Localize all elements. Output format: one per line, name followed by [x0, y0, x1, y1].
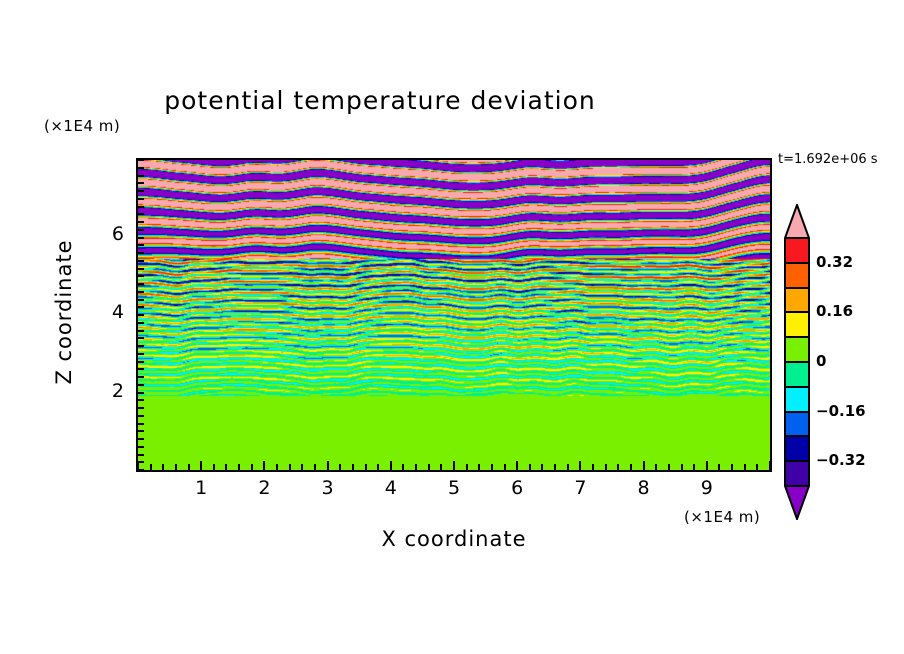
- y-tick: [138, 454, 144, 456]
- x-tick: [251, 464, 253, 470]
- x-tick: [491, 464, 493, 470]
- x-tick: [756, 464, 758, 470]
- y-tick: [138, 268, 144, 270]
- x-tick: [605, 464, 607, 470]
- x-tick: [339, 464, 341, 470]
- x-tick: [225, 464, 227, 470]
- x-tick-label: 6: [497, 477, 537, 499]
- x-tick: [478, 464, 480, 470]
- x-tick: [567, 464, 569, 470]
- y-tick: [138, 399, 144, 401]
- x-tick: [415, 464, 417, 470]
- x-tick-label: 3: [308, 477, 348, 499]
- y-tick: [138, 392, 144, 394]
- x-tick: [276, 464, 278, 470]
- x-tick: [769, 461, 771, 470]
- x-tick-label: 2: [244, 477, 284, 499]
- colorbar-top-arrow: [784, 204, 810, 238]
- colorbar-tick-label: 0.16: [816, 302, 853, 320]
- x-tick: [188, 464, 190, 470]
- x-tick: [592, 464, 594, 470]
- x-axis-title: X coordinate: [136, 527, 772, 551]
- colorbar-tick-label: −0.32: [816, 451, 866, 469]
- colorbar-bottom-arrow: [784, 486, 810, 520]
- colorbar-tick-label: 0: [816, 352, 826, 370]
- colorbar-block: [784, 387, 810, 412]
- y-tick: [138, 237, 144, 239]
- y-tick: [138, 430, 144, 432]
- y-tick: [138, 190, 144, 192]
- x-tick: [655, 464, 657, 470]
- x-tick: [706, 461, 708, 470]
- y-axis-units-label: (×1E4 m): [44, 117, 120, 135]
- x-tick: [289, 464, 291, 470]
- colorbar-block: [784, 412, 810, 437]
- colorbar: [784, 204, 810, 520]
- y-tick: [138, 260, 144, 262]
- y-tick: [138, 438, 144, 440]
- y-tick: [138, 384, 144, 386]
- time-annotation: t=1.692e+06 s: [778, 152, 878, 167]
- y-tick: [138, 159, 144, 161]
- y-tick: [138, 353, 144, 355]
- x-tick: [175, 464, 177, 470]
- x-tick: [643, 461, 645, 470]
- y-tick: [138, 423, 144, 425]
- y-tick: [138, 461, 144, 463]
- y-tick: [138, 213, 144, 215]
- y-tick: [138, 361, 144, 363]
- y-tick: [138, 322, 144, 324]
- colorbar-block: [784, 436, 810, 461]
- x-tick: [365, 464, 367, 470]
- y-tick: [138, 291, 144, 293]
- y-tick: [138, 182, 144, 184]
- contour-field: [138, 160, 770, 470]
- page-title: potential temperature deviation: [0, 86, 760, 115]
- x-tick: [466, 464, 468, 470]
- y-tick: [138, 314, 144, 316]
- y-tick-label: 6: [84, 223, 124, 245]
- x-tick: [402, 464, 404, 470]
- y-tick: [138, 306, 144, 308]
- colorbar-block: [784, 337, 810, 362]
- colorbar-block: [784, 263, 810, 288]
- colorbar-tick-label: 0.32: [816, 253, 853, 271]
- colorbar-block: [784, 312, 810, 337]
- y-tick: [138, 275, 144, 277]
- colorbar-tick-label: −0.16: [816, 402, 866, 420]
- y-tick: [138, 252, 144, 254]
- y-tick: [138, 244, 144, 246]
- x-tick: [150, 464, 152, 470]
- y-tick: [138, 206, 144, 208]
- x-tick-label: 1: [181, 477, 221, 499]
- y-tick: [138, 407, 144, 409]
- x-tick: [440, 464, 442, 470]
- x-tick: [213, 464, 215, 470]
- x-tick: [200, 461, 202, 470]
- y-tick: [138, 337, 144, 339]
- contour-plot-area: [136, 158, 772, 472]
- x-tick: [681, 464, 683, 470]
- y-tick: [138, 175, 144, 177]
- x-tick: [377, 464, 379, 470]
- x-tick: [162, 464, 164, 470]
- x-tick: [428, 464, 430, 470]
- x-tick: [238, 464, 240, 470]
- x-tick: [327, 461, 329, 470]
- x-tick: [453, 461, 455, 470]
- x-tick: [516, 461, 518, 470]
- x-tick: [554, 464, 556, 470]
- y-tick: [138, 368, 144, 370]
- x-tick: [314, 464, 316, 470]
- y-axis-title: Z coordinate: [52, 212, 76, 412]
- y-tick: [138, 221, 144, 223]
- x-tick: [390, 461, 392, 470]
- x-tick: [731, 464, 733, 470]
- x-tick: [693, 464, 695, 470]
- x-tick: [630, 464, 632, 470]
- y-tick: [138, 299, 144, 301]
- x-tick-label: 4: [371, 477, 411, 499]
- y-tick: [138, 198, 144, 200]
- y-tick: [138, 283, 144, 285]
- y-tick: [138, 167, 144, 169]
- y-tick-label: 2: [84, 380, 124, 402]
- x-tick: [504, 464, 506, 470]
- y-tick: [138, 345, 144, 347]
- y-tick: [138, 415, 144, 417]
- colorbar-block: [784, 288, 810, 313]
- y-tick-label: 4: [84, 301, 124, 323]
- x-tick: [579, 461, 581, 470]
- x-tick: [668, 464, 670, 470]
- y-tick: [138, 376, 144, 378]
- y-tick: [138, 330, 144, 332]
- x-tick: [352, 464, 354, 470]
- x-tick-label: 5: [434, 477, 474, 499]
- x-tick: [617, 464, 619, 470]
- x-tick: [718, 464, 720, 470]
- x-tick-label: 9: [687, 477, 727, 499]
- y-tick: [138, 446, 144, 448]
- x-axis-units-label: (×1E4 m): [684, 508, 760, 526]
- colorbar-block: [784, 238, 810, 263]
- x-tick: [744, 464, 746, 470]
- x-tick: [301, 464, 303, 470]
- x-tick: [529, 464, 531, 470]
- y-tick: [138, 469, 144, 471]
- x-tick: [541, 464, 543, 470]
- colorbar-block: [784, 362, 810, 387]
- x-tick: [263, 461, 265, 470]
- y-tick: [138, 229, 144, 231]
- x-tick-label: 8: [624, 477, 664, 499]
- colorbar-block: [784, 461, 810, 486]
- x-tick-label: 7: [560, 477, 600, 499]
